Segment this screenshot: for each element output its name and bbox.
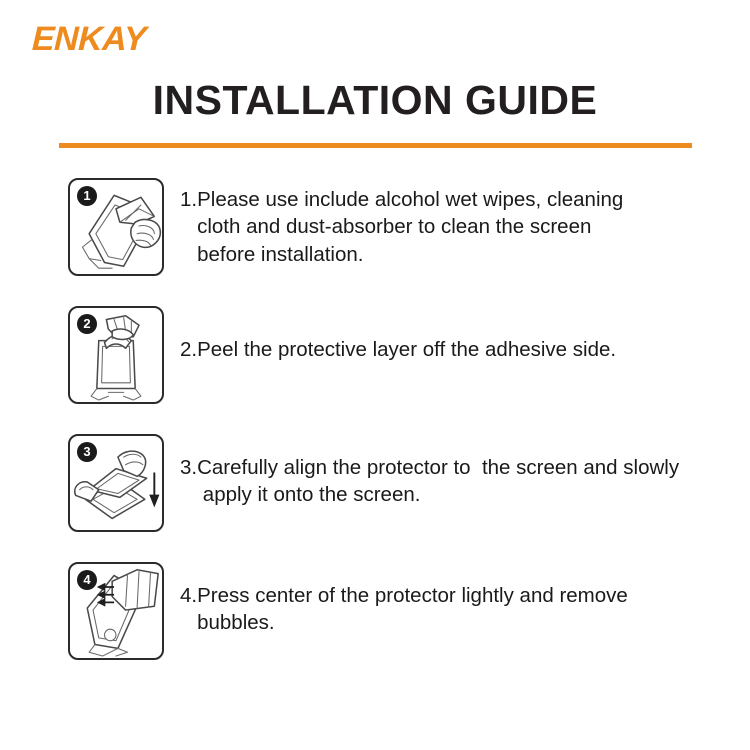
step-2-text: 2.Peel the protective layer off the adhe… (180, 306, 750, 363)
step-3-badge: 3 (77, 442, 97, 462)
arrow-down-icon (151, 472, 159, 505)
step-item: 2 2.Peel the protective layer off (0, 306, 750, 404)
header-divider (59, 143, 692, 148)
step-3-figure: 3 (68, 434, 164, 532)
page-title: INSTALLATION GUIDE (0, 78, 750, 123)
brand-logo: ENKAY (32, 22, 146, 56)
step-1-badge: 1 (77, 186, 97, 206)
step-4-text: 4.Press center of the protector lightly … (180, 562, 750, 637)
brand-logo-text: ENKAY (31, 22, 146, 56)
step-item: 4 (0, 562, 750, 660)
step-1-figure: 1 (68, 178, 164, 276)
step-4-badge: 4 (77, 570, 97, 590)
step-4-figure: 4 (68, 562, 164, 660)
step-2-figure: 2 (68, 306, 164, 404)
installation-guide-page: { "brand": { "logo_text": "ENKAY", "logo… (0, 0, 750, 750)
step-2-badge: 2 (77, 314, 97, 334)
step-item: 3 3.Careful (0, 434, 750, 532)
bubble-arrows-icon (99, 584, 114, 605)
steps-list: 1 1.Please use include alcohol wet wipes… (0, 178, 750, 660)
step-3-text: 3.Carefully align the protector to the s… (180, 434, 750, 509)
step-item: 1 1.Please use include alcohol wet wipes… (0, 178, 750, 276)
step-1-text: 1.Please use include alcohol wet wipes, … (180, 178, 750, 268)
